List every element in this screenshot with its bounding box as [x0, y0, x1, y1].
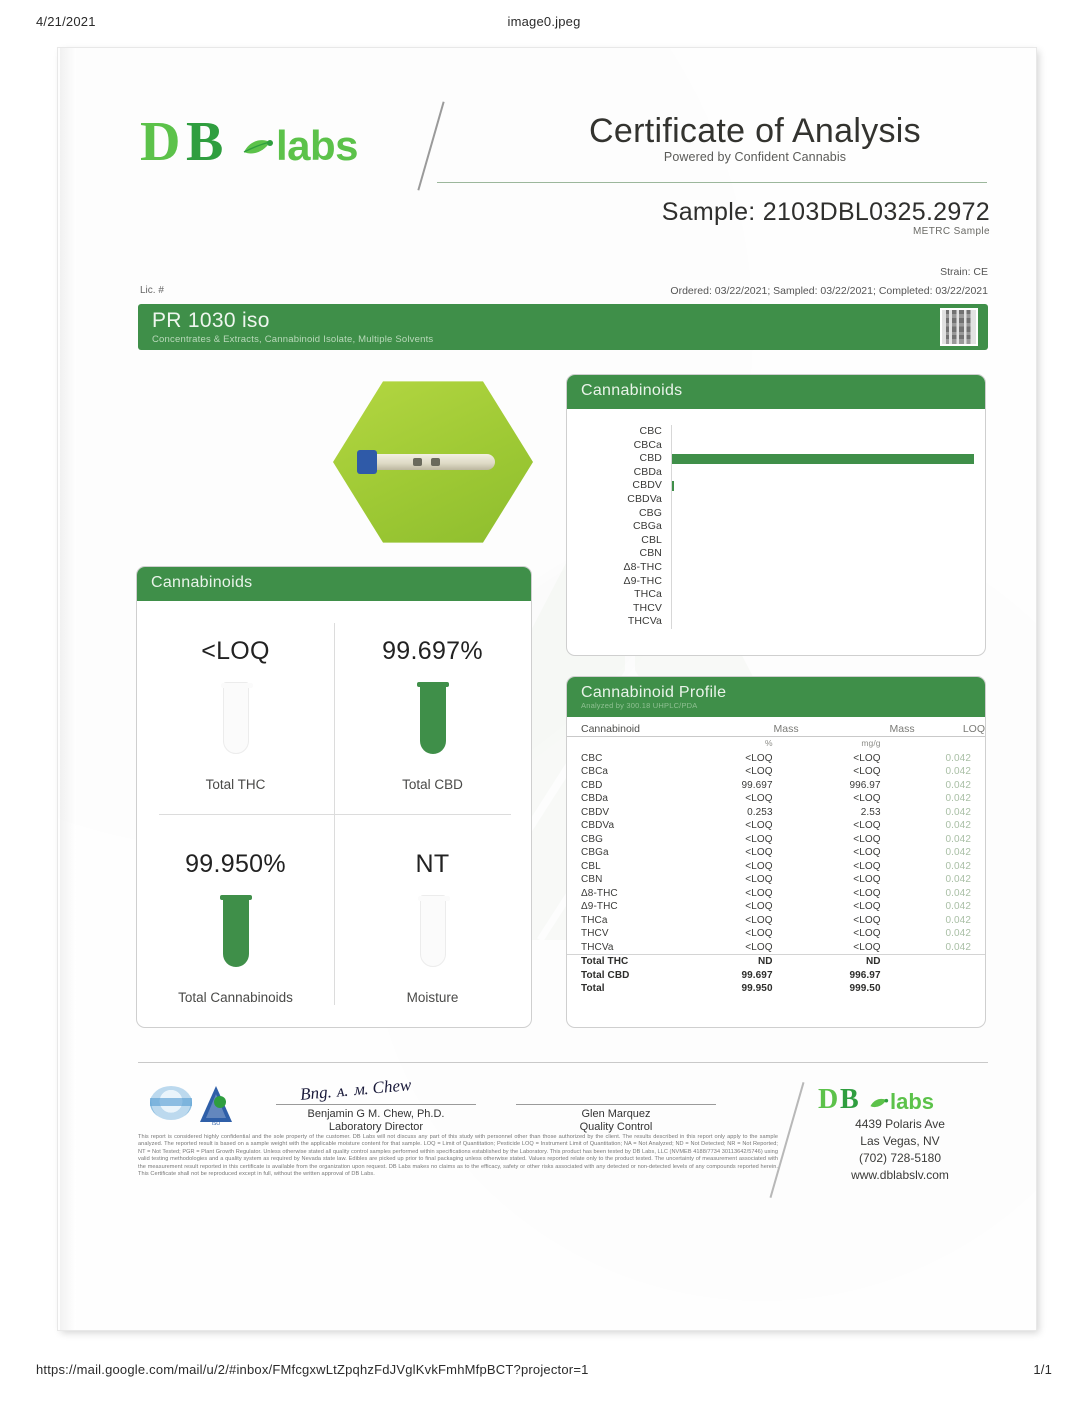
chart-tick-label: THCa	[581, 588, 671, 602]
logo-labs-text: labs	[276, 122, 358, 170]
chart-bar-track	[671, 493, 975, 507]
test-tube-icon	[420, 682, 446, 754]
analyte-mass-pct: <LOQ	[697, 900, 799, 914]
table-row: THCa<LOQ<LOQ0.042	[567, 913, 985, 927]
header-rule	[437, 182, 987, 183]
vape-detail-1	[413, 458, 422, 466]
summary-value: 99.950%	[185, 850, 286, 879]
chart-row: THCV	[581, 602, 975, 616]
leaf-icon	[240, 134, 276, 158]
chart-tick-label: CBL	[581, 534, 671, 548]
chart-row: Δ8-THC	[581, 561, 975, 575]
chart-tick-label: CBDVa	[581, 493, 671, 507]
profile-card-header: Cannabinoid Profile Analyzed by 300.18 U…	[567, 677, 985, 717]
table-row: Δ9-THC<LOQ<LOQ0.042	[567, 900, 985, 914]
chart-tick-label: CBC	[581, 425, 671, 439]
analyte-mass-mgg: <LOQ	[799, 940, 915, 954]
analyte-mass-mgg: ND	[799, 954, 915, 968]
analyte-loq: 0.042	[915, 886, 985, 900]
disclaimer-text: This report is considered highly confide…	[138, 1134, 778, 1178]
chart-row: CBDV	[581, 479, 975, 493]
analyte-loq: 0.042	[915, 792, 985, 806]
analyte-name: Total	[567, 982, 697, 996]
summary-value: NT	[416, 850, 450, 879]
analyte-loq: 0.042	[915, 765, 985, 779]
table-row: CBD99.697996.970.042	[567, 778, 985, 792]
test-tube-icon	[223, 682, 249, 754]
analyte-mass-mgg: 999.50	[799, 982, 915, 996]
cannabinoids-chart-card: Cannabinoids CBCCBCaCBDCBDaCBDVCBDVaCBGC…	[566, 374, 986, 656]
analyte-name: THCVa	[567, 940, 697, 954]
accreditation-seal-1-band	[150, 1098, 192, 1106]
chart-tick-label: Δ8-THC	[581, 561, 671, 575]
signature-name-1: Benjamin G M. Chew, Ph.D.	[276, 1108, 476, 1120]
analyte-name: Total THC	[567, 954, 697, 968]
analyte-mass-mgg: <LOQ	[799, 846, 915, 860]
analyte-loq	[915, 982, 985, 996]
cannabinoids-summary-card: Cannabinoids <LOQTotal THC99.697%Total C…	[136, 566, 532, 1028]
profile-total-row: Total99.950999.50	[567, 982, 985, 996]
chart-bar	[672, 481, 674, 491]
print-filename: image0.jpeg	[0, 14, 1088, 29]
chart-row: CBGa	[581, 520, 975, 534]
chart-bar-track	[671, 425, 975, 439]
analyte-mass-mgg: 996.97	[799, 778, 915, 792]
contact-address-1: 4439 Polaris Ave	[812, 1116, 988, 1133]
table-row: CBDa<LOQ<LOQ0.042	[567, 792, 985, 806]
chart-tick-label: CBG	[581, 507, 671, 521]
profile-table-units-row: % mg/g	[567, 737, 985, 752]
profile-table-header-row: Cannabinoid Mass Mass LOQ	[567, 721, 985, 737]
contact-phone[interactable]: (702) 728-5180	[812, 1150, 988, 1167]
analyte-mass-pct: 99.950	[697, 982, 799, 996]
chart-tick-label: CBDV	[581, 479, 671, 493]
test-tube-icon	[223, 895, 249, 967]
sample-id: Sample: 2103DBL0325.2972	[520, 198, 990, 227]
chart-row: CBN	[581, 547, 975, 561]
analyte-mass-pct: <LOQ	[697, 765, 799, 779]
chart-row: THCa	[581, 588, 975, 602]
analyte-name: CBCa	[567, 765, 697, 779]
analyte-loq	[915, 954, 985, 968]
table-row: CBDVa<LOQ<LOQ0.042	[567, 819, 985, 833]
product-name: PR 1030 iso	[152, 309, 270, 333]
chart-bar-track	[671, 615, 975, 629]
footer-logo: D B labs	[812, 1086, 988, 1116]
analyte-name: THCV	[567, 927, 697, 941]
profile-card-title: Cannabinoid Profile	[581, 684, 726, 702]
summary-label: Total Cannabinoids	[178, 990, 293, 1005]
analyte-mass-pct: <LOQ	[697, 873, 799, 887]
chart-bar-track	[671, 507, 975, 521]
analyte-mass-pct: <LOQ	[697, 846, 799, 860]
analyte-loq: 0.042	[915, 900, 985, 914]
analyte-loq: 0.042	[915, 778, 985, 792]
analyte-name: THCa	[567, 913, 697, 927]
chart-bar-track	[671, 466, 975, 480]
analyte-name: Δ9-THC	[567, 900, 697, 914]
profile-total-row: Total THCNDND	[567, 954, 985, 968]
analyte-name: CBD	[567, 778, 697, 792]
analyte-mass-mgg: 996.97	[799, 968, 915, 982]
analyte-mass-pct: <LOQ	[697, 819, 799, 833]
chart-row: CBL	[581, 534, 975, 548]
analyte-mass-pct: <LOQ	[697, 940, 799, 954]
chart-bar-track	[671, 479, 975, 493]
profile-total-row: Total CBD99.697996.97	[567, 968, 985, 982]
print-url: https://mail.google.com/mail/u/2/#inbox/…	[36, 1362, 589, 1377]
table-row: CBN<LOQ<LOQ0.042	[567, 873, 985, 887]
analyte-name: CBC	[567, 751, 697, 765]
analyte-loq: 0.042	[915, 819, 985, 833]
chart-card-header: Cannabinoids	[567, 375, 985, 409]
print-page-number: 1/1	[1033, 1362, 1052, 1377]
analyte-mass-mgg: <LOQ	[799, 886, 915, 900]
strain-label: Strain: CE	[940, 266, 988, 278]
chart-bar	[672, 454, 974, 464]
analyte-loq: 0.042	[915, 859, 985, 873]
analyte-name: CBG	[567, 832, 697, 846]
summary-card-header: Cannabinoids	[137, 567, 531, 601]
chart-bar-track	[671, 602, 975, 616]
table-row: Δ8-THC<LOQ<LOQ0.042	[567, 886, 985, 900]
chart-bar-track	[671, 520, 975, 534]
unit-mass-mgg: mg/g	[799, 737, 915, 752]
analyte-loq: 0.042	[915, 927, 985, 941]
profile-table-body: CBC<LOQ<LOQ0.042CBCa<LOQ<LOQ0.042CBD99.6…	[567, 751, 985, 995]
analyte-loq: 0.042	[915, 846, 985, 860]
vape-cap-icon	[357, 450, 377, 474]
table-row: THCVa<LOQ<LOQ0.042	[567, 940, 985, 954]
analyte-mass-mgg: <LOQ	[799, 751, 915, 765]
analyte-mass-mgg: <LOQ	[799, 819, 915, 833]
chart-tick-label: CBGa	[581, 520, 671, 534]
print-header: 4/21/2021 image0.jpeg	[0, 14, 1088, 34]
chart-card-title: Cannabinoids	[581, 382, 682, 400]
qr-code[interactable]	[940, 308, 978, 346]
analyte-name: CBDa	[567, 792, 697, 806]
footer-logo-letter-d: D	[818, 1086, 838, 1114]
footer-logo-letter-b: B	[840, 1086, 859, 1114]
analyte-mass-pct: 99.697	[697, 968, 799, 982]
analyte-mass-mgg: 2.53	[799, 805, 915, 819]
chart-tick-label: Δ9-THC	[581, 575, 671, 589]
summary-label: Total THC	[206, 777, 266, 792]
chart-row: Δ9-THC	[581, 575, 975, 589]
analyte-mass-pct: <LOQ	[697, 832, 799, 846]
table-row: CBGa<LOQ<LOQ0.042	[567, 846, 985, 860]
test-tube-icon	[420, 895, 446, 967]
analyte-mass-pct: <LOQ	[697, 913, 799, 927]
chart-row: THCVa	[581, 615, 975, 629]
analyte-name: Total CBD	[567, 968, 697, 982]
col-cannabinoid: Cannabinoid	[567, 721, 697, 737]
unit-cannabinoid	[567, 737, 697, 752]
logo-letter-b: B	[186, 114, 223, 170]
accreditation-seal-2-icon: ISO	[196, 1084, 236, 1126]
product-category: Concentrates & Extracts, Cannabinoid Iso…	[152, 334, 433, 345]
chart-tick-label: CBCa	[581, 439, 671, 453]
summary-value: 99.697%	[382, 637, 483, 666]
analyte-name: CBDVa	[567, 819, 697, 833]
analyte-loq	[915, 968, 985, 982]
analyte-loq: 0.042	[915, 832, 985, 846]
signature-role-2: Quality Control	[516, 1121, 716, 1133]
chart-row: CBG	[581, 507, 975, 521]
table-row: CBG<LOQ<LOQ0.042	[567, 832, 985, 846]
chart-bar-track	[671, 452, 975, 466]
scan-edge-artifact	[60, 48, 76, 1330]
chart-bar-track	[671, 561, 975, 575]
license-label: Lic. #	[140, 285, 164, 296]
footer-logo-labs-text: labs	[890, 1089, 934, 1115]
profile-card-subtitle: Analyzed by 300.18 UHPLC/PDA	[581, 701, 698, 710]
analyte-loq: 0.042	[915, 940, 985, 954]
summary-label: Moisture	[407, 990, 459, 1005]
vape-detail-2	[431, 458, 440, 466]
table-row: CBCa<LOQ<LOQ0.042	[567, 765, 985, 779]
summary-label: Total CBD	[402, 777, 463, 792]
chart-tick-label: CBDa	[581, 466, 671, 480]
chart-bar-track	[671, 547, 975, 561]
footer-rule	[138, 1062, 988, 1063]
chart-bar-track	[671, 588, 975, 602]
analyte-loq: 0.042	[915, 913, 985, 927]
svg-text:ISO: ISO	[212, 1121, 221, 1126]
chart-row: CBDa	[581, 466, 975, 480]
cannabinoid-profile-card: Cannabinoid Profile Analyzed by 300.18 U…	[566, 676, 986, 1028]
chart-tick-label: THCV	[581, 602, 671, 616]
analyte-mass-pct: <LOQ	[697, 886, 799, 900]
chart-bar-track	[671, 439, 975, 453]
analyte-mass-mgg: <LOQ	[799, 792, 915, 806]
unit-loq	[915, 737, 985, 752]
chart-tick-label: CBN	[581, 547, 671, 561]
summary-cell: 99.950%Total Cannabinoids	[137, 814, 334, 1027]
table-row: THCV<LOQ<LOQ0.042	[567, 927, 985, 941]
chart-tick-label: CBD	[581, 452, 671, 466]
chart-plot-area: CBCCBCaCBDCBDaCBDVCBDVaCBGCBGaCBLCBNΔ8-T…	[567, 409, 985, 655]
signature-line-2	[516, 1104, 716, 1105]
table-row: CBDV0.2532.530.042	[567, 805, 985, 819]
contact-website[interactable]: www.dblabslv.com	[812, 1167, 988, 1184]
chart-row: CBC	[581, 425, 975, 439]
analyte-mass-mgg: <LOQ	[799, 927, 915, 941]
analyte-mass-mgg: <LOQ	[799, 900, 915, 914]
summary-card-title: Cannabinoids	[151, 574, 252, 592]
analyte-mass-mgg: <LOQ	[799, 832, 915, 846]
page-subtitle: Powered by Confident Cannabis	[520, 150, 990, 164]
table-row: CBC<LOQ<LOQ0.042	[567, 751, 985, 765]
chart-row: CBDVa	[581, 493, 975, 507]
chart-bar-track	[671, 575, 975, 589]
analyte-loq: 0.042	[915, 805, 985, 819]
db-labs-logo: D B labs	[140, 112, 380, 174]
chart-row: CBCa	[581, 439, 975, 453]
analyte-loq: 0.042	[915, 751, 985, 765]
analyte-mass-pct: ND	[697, 954, 799, 968]
analyte-mass-pct: <LOQ	[697, 751, 799, 765]
sample-type: METRC Sample	[520, 226, 990, 237]
signature-name-2: Glen Marquez	[516, 1108, 716, 1120]
summary-value: <LOQ	[201, 637, 270, 666]
contact-address-2: Las Vegas, NV	[812, 1133, 988, 1150]
summary-cell: NTMoisture	[334, 814, 531, 1027]
table-row: CBL<LOQ<LOQ0.042	[567, 859, 985, 873]
print-footer: https://mail.google.com/mail/u/2/#inbox/…	[0, 1362, 1088, 1382]
summary-grid: <LOQTotal THC99.697%Total CBD99.950%Tota…	[137, 601, 531, 1027]
analyte-mass-pct: <LOQ	[697, 792, 799, 806]
col-mass-pct: Mass	[697, 721, 799, 737]
signature-role-1: Laboratory Director	[276, 1121, 476, 1133]
logo-letter-d: D	[140, 114, 180, 170]
analyte-name: Δ8-THC	[567, 886, 697, 900]
analyte-name: CBDV	[567, 805, 697, 819]
sample-dates: Ordered: 03/22/2021; Sampled: 03/22/2021…	[670, 285, 988, 297]
footer-leaf-icon	[868, 1095, 890, 1110]
analyte-mass-mgg: <LOQ	[799, 873, 915, 887]
analyte-mass-mgg: <LOQ	[799, 765, 915, 779]
unit-mass-pct: %	[697, 737, 799, 752]
chart-tick-label: THCVa	[581, 615, 671, 629]
analyte-name: CBGa	[567, 846, 697, 860]
cannabinoid-profile-table: Cannabinoid Mass Mass LOQ % mg/g CBC<LOQ…	[567, 721, 985, 995]
analyte-mass-pct: <LOQ	[697, 859, 799, 873]
col-mass-mgg: Mass	[799, 721, 915, 737]
product-image	[333, 378, 533, 546]
analyte-mass-pct: 99.697	[697, 778, 799, 792]
analyte-loq: 0.042	[915, 873, 985, 887]
analyte-mass-pct: 0.253	[697, 805, 799, 819]
analyte-mass-mgg: <LOQ	[799, 859, 915, 873]
chart-bar-track	[671, 534, 975, 548]
analyte-mass-mgg: <LOQ	[799, 913, 915, 927]
analyte-name: CBL	[567, 859, 697, 873]
summary-cell: <LOQTotal THC	[137, 601, 334, 814]
lab-contact-block: D B labs 4439 Polaris Ave Las Vegas, NV …	[812, 1086, 988, 1184]
summary-cell: 99.697%Total CBD	[334, 601, 531, 814]
analyte-name: CBN	[567, 873, 697, 887]
profile-table-head: Cannabinoid Mass Mass LOQ % mg/g	[567, 721, 985, 751]
col-loq: LOQ	[915, 721, 985, 737]
signature-line-1	[276, 1104, 476, 1105]
analyte-mass-pct: <LOQ	[697, 927, 799, 941]
page-title: Certificate of Analysis	[520, 112, 990, 151]
product-banner: PR 1030 iso Concentrates & Extracts, Can…	[138, 304, 988, 350]
chart-row: CBD	[581, 452, 975, 466]
